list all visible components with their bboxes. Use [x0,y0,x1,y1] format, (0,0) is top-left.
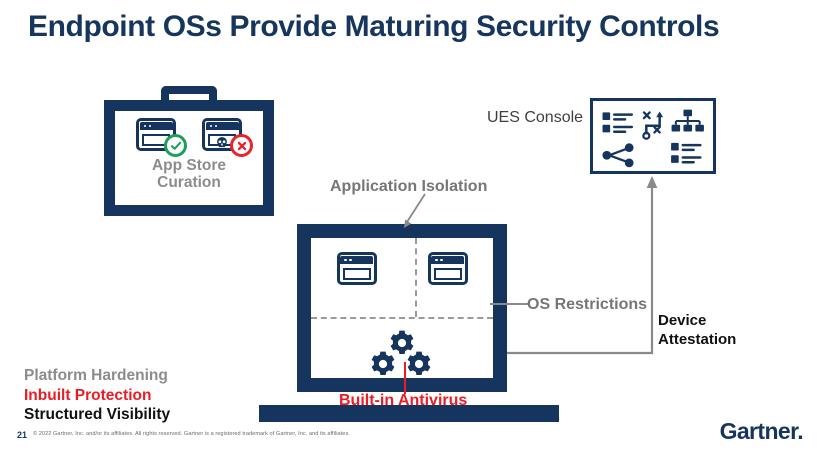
share-network-icon [602,143,633,167]
browser-window-icon [136,118,176,151]
ues-console-icons [593,101,713,173]
page-title: Endpoint OSs Provide Maturing Security C… [28,10,808,44]
device-attestation-line1: Device [658,311,736,330]
browser-window-icon [337,252,377,285]
gartner-logo-dot: . [797,418,803,444]
page-number: 21 [17,430,27,440]
ues-console-panel [590,98,716,174]
gartner-logo: Gartner. [720,418,803,445]
device-attestation-line2: Attestation [658,330,736,349]
os-restrictions-divider [311,317,493,319]
application-isolation-connector [398,192,428,230]
legend-platform-hardening: Platform Hardening [24,366,170,386]
built-in-antivirus-connector [404,362,406,394]
application-isolation-divider [415,238,417,317]
skull-icon [215,136,230,151]
built-in-antivirus-label: Built-in Antivirus [339,392,467,410]
checklist-icon [603,112,633,133]
browser-window-icon [428,252,468,285]
device-attestation-label: Device Attestation [658,311,736,349]
app-store-curation-label: App Store Curation [152,157,226,191]
briefcase-body-icon: App Store Curation [104,100,274,216]
browser-window-malware-icon [202,118,242,151]
os-restrictions-connector [490,303,530,305]
ues-console-label: UES Console [487,109,583,127]
copyright-notice: © 2022 Gartner, Inc. and/or its affiliat… [33,431,350,437]
legend-structured-visibility: Structured Visibility [24,405,170,425]
app-store-curation-label-line2: Curation [152,174,226,191]
gartner-logo-text: Gartner [720,418,798,444]
app-store-curation-card: App Store Curation [104,86,274,216]
three-gears-icon [311,330,493,378]
legend: Platform Hardening Inbuilt Protection St… [24,366,170,425]
hierarchy-tree-icon [672,110,704,132]
legend-inbuilt-protection: Inbuilt Protection [24,386,170,406]
endpoint-os-device [297,224,507,392]
checklist-icon [671,143,701,164]
workflow-branch-icon [643,111,663,138]
red-x-icon [230,134,253,157]
os-restrictions-label: OS Restrictions [527,296,647,314]
green-check-icon [164,134,187,157]
slide-canvas: Endpoint OSs Provide Maturing Security C… [0,0,825,450]
app-store-curation-label-line1: App Store [152,157,226,174]
